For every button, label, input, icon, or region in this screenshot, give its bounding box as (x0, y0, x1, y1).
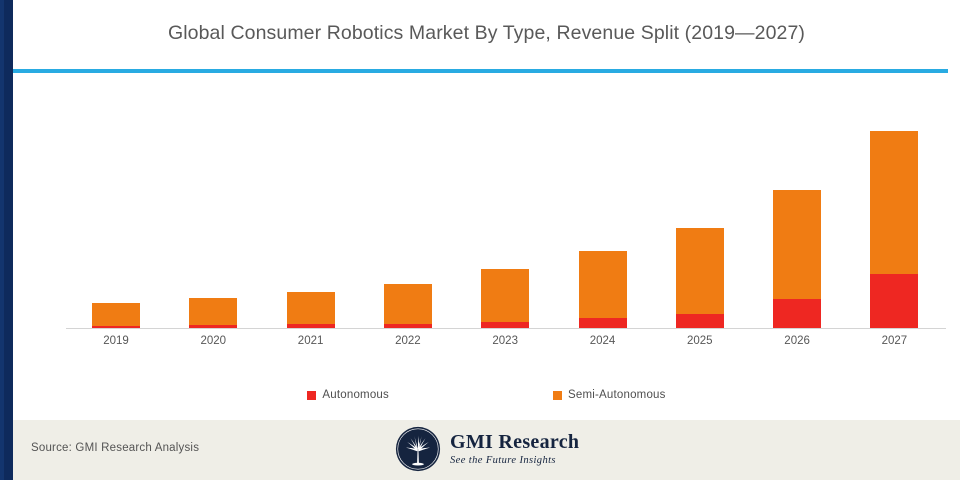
brand-name: GMI Research (450, 432, 579, 452)
bar-segment-autonomous-2025[interactable] (676, 314, 724, 328)
bar-segment-autonomous-2027[interactable] (870, 274, 918, 328)
bar-segment-autonomous-2026[interactable] (773, 299, 821, 328)
bar-2023[interactable] (481, 269, 529, 328)
x-axis-label-2023: 2023 (465, 335, 545, 347)
page-title: Global Consumer Robotics Market By Type,… (13, 22, 960, 45)
bar-2020[interactable] (189, 298, 237, 328)
legend-swatch-icon (553, 391, 562, 400)
bar-2024[interactable] (579, 251, 627, 328)
legend-swatch-icon (307, 391, 316, 400)
bar-2026[interactable] (773, 190, 821, 328)
bar-segment-autonomous-2019[interactable] (92, 326, 140, 328)
bar-segment-semi-autonomous-2025[interactable] (676, 228, 724, 314)
brand-tagline: See the Future Insights (450, 456, 579, 467)
x-axis-label-2025: 2025 (660, 335, 740, 347)
bar-segment-semi-autonomous-2023[interactable] (481, 269, 529, 322)
chart-infographic: Global Consumer Robotics Market By Type,… (0, 0, 960, 480)
bar-segment-autonomous-2022[interactable] (384, 324, 432, 328)
bar-segment-autonomous-2021[interactable] (287, 324, 335, 328)
bar-2027[interactable] (870, 131, 918, 328)
bar-segment-semi-autonomous-2026[interactable] (773, 190, 821, 298)
bar-segment-semi-autonomous-2024[interactable] (579, 251, 627, 318)
bar-segment-semi-autonomous-2019[interactable] (92, 303, 140, 326)
bars-layer: 201920202021202220232024202520262027 (13, 73, 960, 420)
bar-2022[interactable] (384, 284, 432, 328)
left-accent-rail (0, 0, 13, 480)
x-axis-label-2022: 2022 (368, 335, 448, 347)
bar-segment-semi-autonomous-2022[interactable] (384, 284, 432, 324)
source-note: Source: GMI Research Analysis (31, 442, 199, 454)
chart-legend: AutonomousSemi-Autonomous (13, 385, 960, 405)
x-axis-label-2021: 2021 (271, 335, 351, 347)
legend-item-autonomous[interactable]: Autonomous (307, 389, 389, 401)
footer: Source: GMI Research Analysis (13, 420, 960, 480)
x-axis-label-2019: 2019 (76, 335, 156, 347)
left-accent-rail-inner (0, 0, 4, 480)
bar-2025[interactable] (676, 228, 724, 328)
x-axis-label-2026: 2026 (757, 335, 837, 347)
plot-area: 201920202021202220232024202520262027 (13, 73, 960, 420)
legend-item-semi-autonomous[interactable]: Semi-Autonomous (553, 389, 666, 401)
bar-segment-autonomous-2023[interactable] (481, 322, 529, 328)
bar-segment-autonomous-2024[interactable] (579, 318, 627, 328)
bar-segment-semi-autonomous-2021[interactable] (287, 292, 335, 325)
bar-segment-semi-autonomous-2020[interactable] (189, 298, 237, 326)
bar-segment-autonomous-2020[interactable] (189, 325, 237, 328)
bar-2021[interactable] (287, 292, 335, 328)
legend-label: Autonomous (322, 389, 389, 401)
brand-wordmark: GMI Research See the Future Insights (450, 432, 579, 467)
palm-fan-badge-icon (395, 426, 441, 472)
bar-segment-semi-autonomous-2027[interactable] (870, 131, 918, 274)
brand-logo: GMI Research See the Future Insights (395, 426, 579, 472)
x-axis-label-2020: 2020 (173, 335, 253, 347)
x-axis-label-2027: 2027 (854, 335, 934, 347)
legend-label: Semi-Autonomous (568, 389, 666, 401)
title-band: Global Consumer Robotics Market By Type,… (13, 0, 960, 71)
bar-2019[interactable] (92, 303, 140, 328)
x-axis-label-2024: 2024 (563, 335, 643, 347)
